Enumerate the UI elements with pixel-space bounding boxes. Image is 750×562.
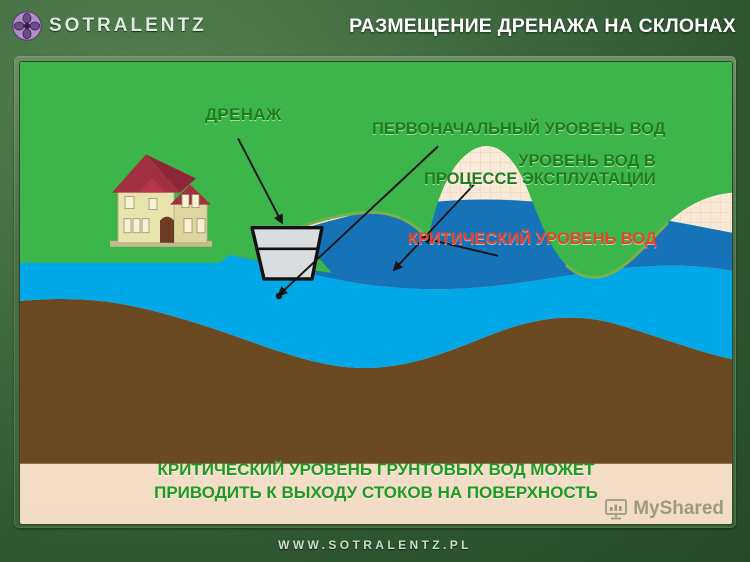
myshared-watermark: MyShared [604, 498, 724, 520]
slide-root: SOTRALENTZ РАЗМЕЩЕНИЕ ДРЕНАЖА НА СКЛОНАХ [0, 0, 750, 562]
myshared-watermark-text: MyShared [633, 498, 724, 520]
label-initial-water-level: ПЕРВОНАЧАЛЬНЫЙ УРОВЕНЬ ВОД [372, 120, 666, 138]
pointer-initial-level-dot [276, 293, 282, 299]
drainage-trench-shape[interactable] [252, 228, 322, 279]
label-operational-line1: УРОВЕНЬ ВОД В [424, 152, 656, 170]
slide-header: SOTRALENTZ РАЗМЕЩЕНИЕ ДРЕНАЖА НА СКЛОНАХ [0, 0, 750, 52]
diagram-panel: ДРЕНАЖ ПЕРВОНАЧАЛЬНЫЙ УРОВЕНЬ ВОД УРОВЕН… [19, 61, 733, 525]
slide-footer: WWW.SOTRALENTZ.PL [0, 528, 750, 562]
label-critical-water-level: КРИТИЧЕСКИЙ УРОВЕНЬ ВОД [408, 230, 657, 248]
clover-flower-icon [12, 11, 42, 41]
page-title: РАЗМЕЩЕНИЕ ДРЕНАЖА НА СКЛОНАХ [349, 15, 736, 38]
content-frame: ДРЕНАЖ ПЕРВОНАЧАЛЬНЫЙ УРОВЕНЬ ВОД УРОВЕН… [14, 56, 736, 528]
caption-line-1: КРИТИЧЕСКИЙ УРОВЕНЬ ГРУНТОВЫХ ВОД МОЖЕТ [20, 459, 732, 481]
presentation-chart-icon [604, 498, 628, 520]
footer-url[interactable]: WWW.SOTRALENTZ.PL [278, 538, 472, 552]
label-operational-line2: ПРОЦЕССЕ ЭКСПЛУАТАЦИИ [424, 170, 656, 188]
label-operational-water-level: УРОВЕНЬ ВОД В ПРОЦЕССЕ ЭКСПЛУАТАЦИИ [424, 152, 656, 189]
brand-logo: SOTRALENTZ [12, 11, 207, 41]
brand-logo-text: SOTRALENTZ [49, 15, 207, 37]
label-drainage: ДРЕНАЖ [205, 105, 282, 124]
